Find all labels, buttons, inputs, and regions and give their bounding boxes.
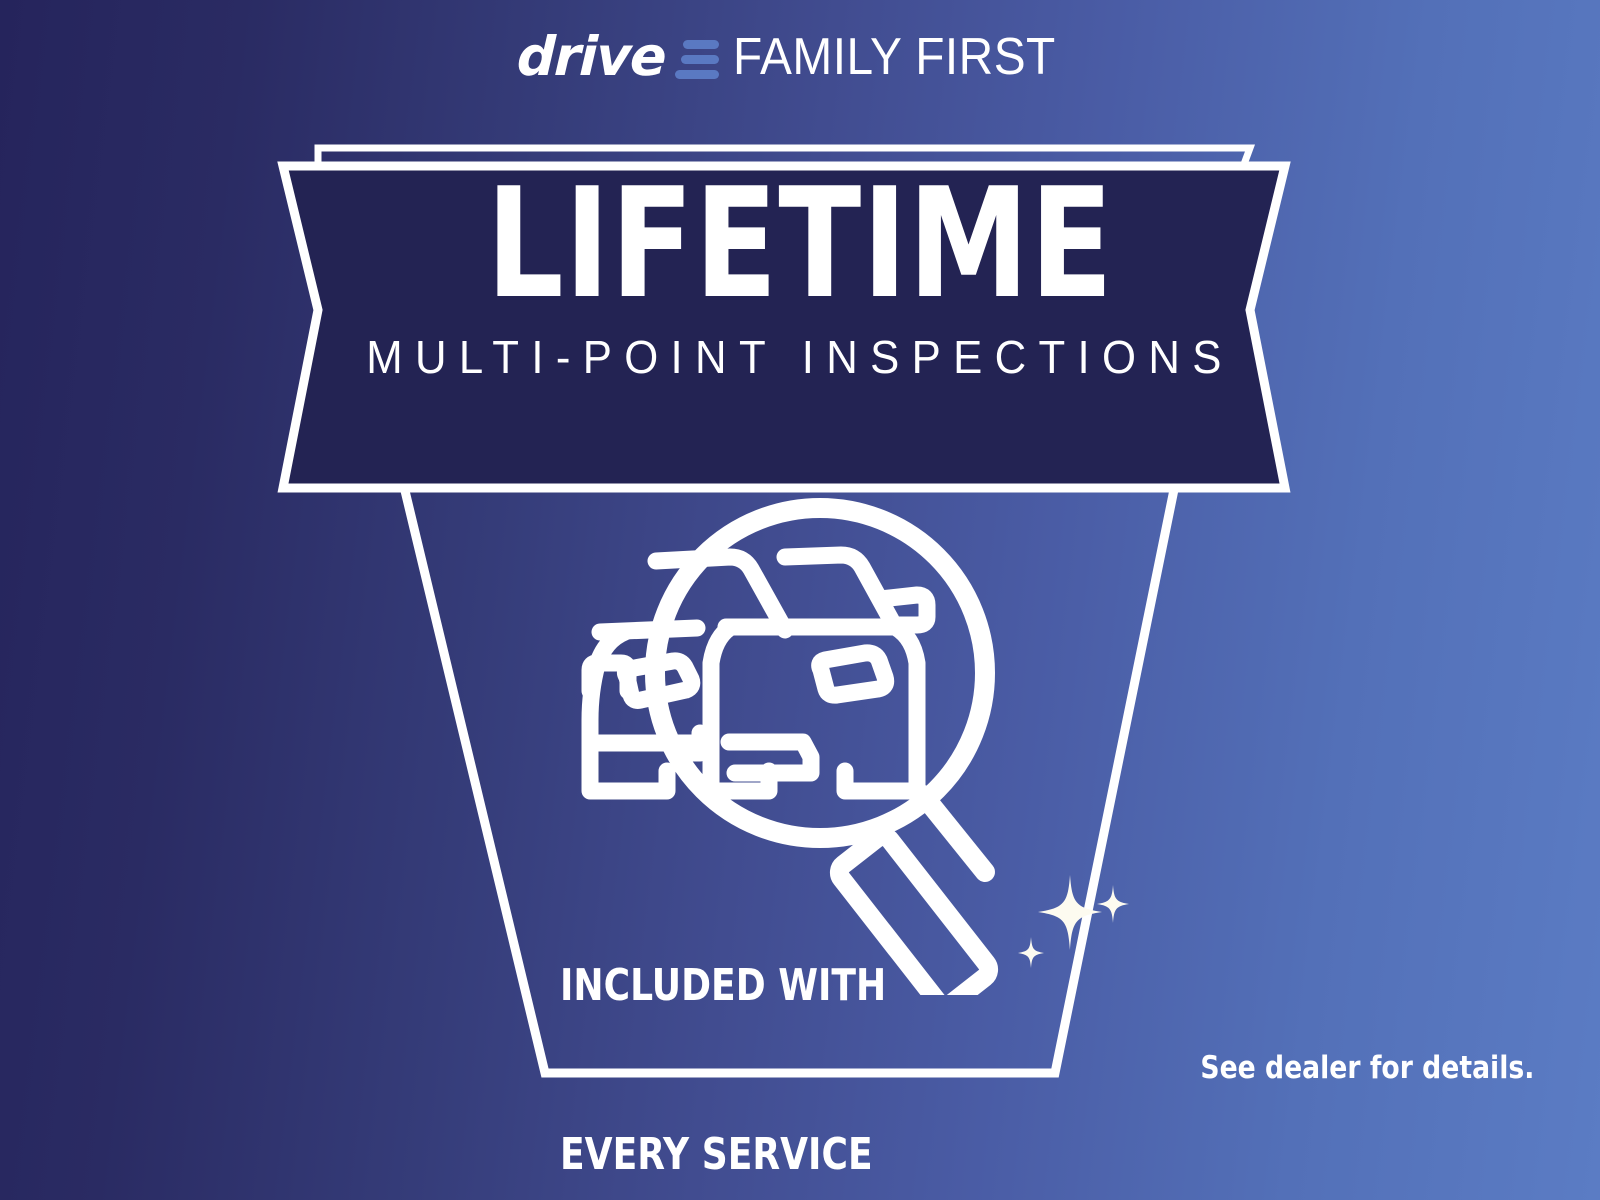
bar-middle xyxy=(681,55,719,64)
front-car-right-bumper xyxy=(845,771,917,791)
promo-poster: INCLUDED WITH EVERY SERVICE LIFETIME MUL… xyxy=(0,0,1600,1200)
page-title: LIFETIME xyxy=(160,172,1440,316)
disclaimer-text: See dealer for details. xyxy=(1200,1050,1534,1086)
page-subtitle: MULTI-POINT INSPECTIONS xyxy=(40,330,1560,384)
brand-tagline: FAMILY FIRST xyxy=(733,31,1056,83)
feature-caption-line-1: INCLUDED WITH xyxy=(560,958,886,1014)
bar-top xyxy=(683,40,719,49)
front-car-grille xyxy=(729,742,811,773)
brand-logo[interactable]: drive FAMILY FIRST xyxy=(0,30,1600,84)
sparkle-large xyxy=(1038,875,1102,950)
front-car-headlight xyxy=(820,653,886,695)
three-bars-icon xyxy=(675,36,719,79)
sparkles-icon xyxy=(1010,855,1140,975)
feature-caption-line-2: EVERY SERVICE xyxy=(560,1127,886,1183)
feature-caption: INCLUDED WITH EVERY SERVICE xyxy=(560,845,886,1200)
sparkle-small xyxy=(1018,937,1044,968)
magnifier-neck xyxy=(923,795,985,872)
banner-text-block: LIFETIME MULTI-POINT INSPECTIONS xyxy=(0,172,1600,384)
bar-bottom xyxy=(675,70,719,79)
left-car-bumper xyxy=(590,771,667,791)
front-car-right-fender xyxy=(895,627,917,771)
brand-wordmark: drive xyxy=(516,30,666,84)
sparkle-medium xyxy=(1097,885,1129,923)
left-car-windshield-base xyxy=(600,628,697,632)
